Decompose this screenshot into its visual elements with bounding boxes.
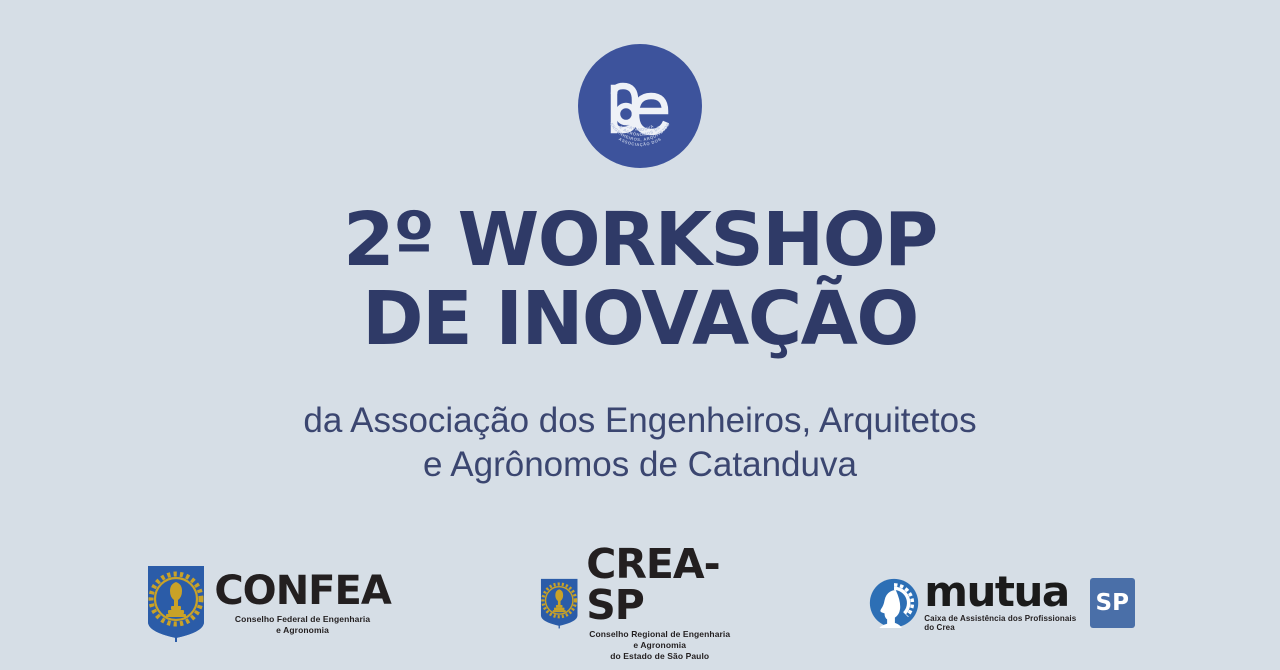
crea-sp-text-block: CREA-SP Conselho Regional de Engenharia … [586,544,733,662]
subtitle-line-2: e Agrônomos de Catanduva [303,443,976,488]
sponsor-logo-bar: CONFEA Conselho Federal de Engenharia e … [0,558,1280,648]
confea-wordmark: CONFEA [214,571,390,611]
emblem-monogram-icon: ASSOCIAÇÃO DOS ENGENHEIROS, ARQUITETOS E… [578,44,702,168]
poster-canvas: ASSOCIAÇÃO DOS ENGENHEIROS, ARQUITETOS E… [0,0,1280,670]
mutua-wordmark: mutua [924,573,1084,612]
mutua-sp-badge: SP [1090,578,1135,628]
crea-sp-wordmark: CREA-SP [586,544,733,626]
crea-sp-tagline-line-1: Conselho Regional de Engenharia e Agrono… [589,629,730,650]
confea-tagline-line-2: e Agronomia [276,625,329,635]
title-line-2: DE INOVAÇÃO [343,283,937,356]
sponsor-logo-mutua-sp: mutua Caixa de Assistência dos Profissio… [869,567,1134,639]
association-emblem: ASSOCIAÇÃO DOS ENGENHEIROS, ARQUITETOS E… [578,44,702,168]
confea-text-block: CONFEA Conselho Federal de Engenharia e … [214,571,390,636]
crea-sp-tagline: Conselho Regional de Engenharia e Agrono… [586,629,733,662]
sponsor-logo-confea: CONFEA Conselho Federal de Engenharia e … [145,567,390,639]
page-subtitle: da Associação dos Engenheiros, Arquiteto… [303,399,976,489]
crea-sp-shield-icon [539,567,579,639]
page-title: 2º WORKSHOP DE INOVAÇÃO [343,204,937,357]
subtitle-line-1: da Associação dos Engenheiros, Arquiteto… [303,399,976,444]
confea-shield-icon [145,564,207,642]
sponsor-logo-crea-sp: CREA-SP Conselho Regional de Engenharia … [539,567,733,639]
confea-tagline-line-1: Conselho Federal de Engenharia [235,614,370,624]
title-line-1: 2º WORKSHOP [343,204,937,277]
mutua-profile-gear-icon [869,574,919,632]
crea-sp-tagline-line-2: do Estado de São Paulo [610,651,709,661]
confea-tagline: Conselho Federal de Engenharia e Agronom… [214,614,390,636]
mutua-tagline: Caixa de Assistência dos Profissionais d… [924,614,1084,633]
